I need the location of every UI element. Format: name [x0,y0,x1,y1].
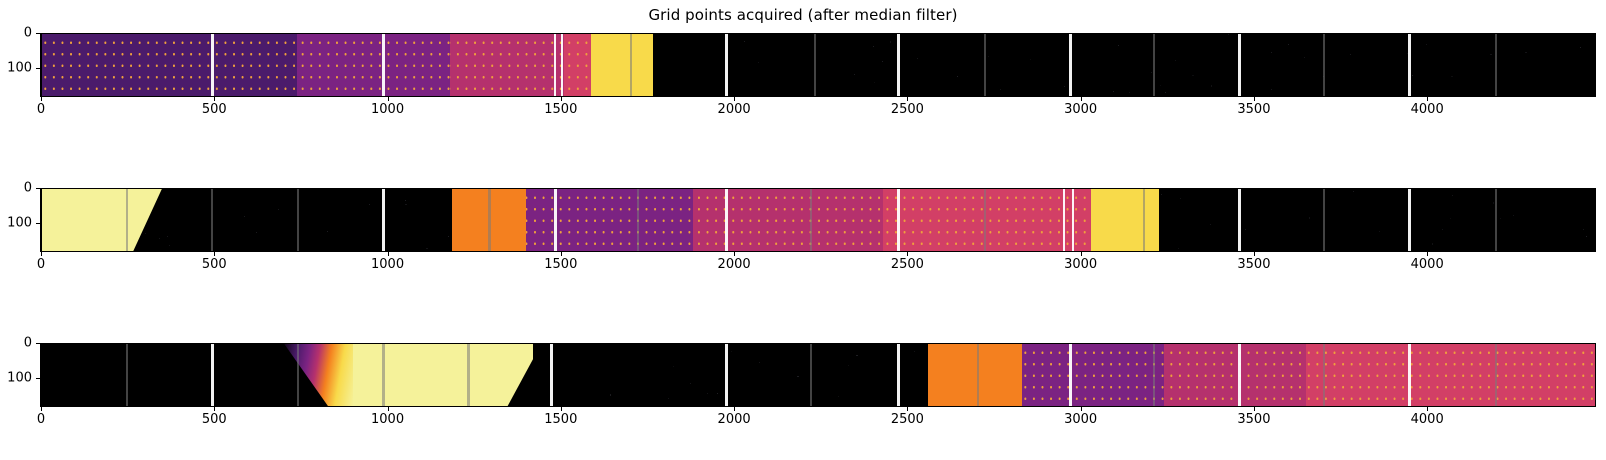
panel-row-3-black-mid [557,343,928,407]
panel-row-2-divider [637,188,639,252]
panel-row-2-y-tick-label: 100 [7,215,32,230]
panel-row-2-x-axis: 05001000150020002500300035004000 [41,252,1596,276]
panel-row-1-purple-grid-2-dots [297,33,449,97]
noise-speck [707,393,708,394]
panel-row-1-yellow-block [591,33,652,97]
panel-row-3-x-tick-label: 3000 [1064,412,1097,427]
panel-row-1-y-tick-label: 100 [7,60,32,75]
panel-row-1-x-axis: 05001000150020002500300035004000 [41,97,1596,121]
panel-row-3-x-tick-label: 4000 [1411,412,1444,427]
noise-speck [256,232,257,233]
panel-row-1-x-tick [734,97,735,101]
noise-speck [1118,45,1119,46]
panel-row-2-y-tick-label: 0 [24,181,32,196]
panel-row-2-image [41,188,1596,252]
panel-row-1-crimson-grid-dots [564,33,591,97]
panel-row-2-divider [897,188,900,252]
panel-row-1-magenta-grid-dots [450,33,564,97]
panel-row-2-x-tick-label: 3000 [1064,257,1097,272]
panel-row-3-x-axis: 05001000150020002500300035004000 [41,407,1596,431]
panel-row-3-x-tick [41,407,42,411]
noise-speck [1113,91,1114,92]
panel-row-1-divider [630,33,632,97]
figure-root: Grid points acquired (after median filte… [0,0,1606,460]
noise-speck [405,200,406,201]
panel-row-3-divider [382,343,385,407]
noise-speck [1450,218,1451,219]
noise-speck [856,355,858,356]
panel-row-3-divider [467,343,470,407]
panel-row-2-x-tick-label: 2500 [891,257,924,272]
noise-speck [1129,92,1130,93]
panel-row-1-divider [725,33,728,97]
panel-row-3-x-tick [1427,407,1428,411]
noise-speck [988,56,989,57]
panel-row-3-x-tick-label: 500 [202,412,227,427]
panel-row-3-x-tick-label: 0 [37,412,45,427]
panel-row-2-divider [1143,188,1145,252]
noise-speck [1211,85,1212,87]
noise-speck [1151,72,1152,73]
noise-speck [1309,217,1310,219]
panel-row-2-divider [382,188,385,252]
panel-row-1-x-tick-label: 1500 [544,102,577,117]
panel-row-1-divider [211,33,214,97]
panel-row-3-orange-block [928,343,1022,407]
panel-row-1-y-tick [36,33,40,34]
noise-speck [327,231,328,232]
panel-row-3-divider [297,343,299,407]
panel-row-3-magenta-grid-dots [1164,343,1306,407]
panel-row-1-purple-grid-dots [41,33,297,97]
noise-speck [1064,86,1065,87]
panel-row-3-x-tick-label: 1000 [371,412,404,427]
panel-row-2-x-tick-label: 3500 [1237,257,1270,272]
noise-speck [1288,44,1289,45]
noise-speck [167,236,168,237]
panel-row-3-y-spine [40,343,41,407]
noise-speck [1452,195,1453,196]
noise-speck [1245,229,1246,230]
noise-speck [731,351,732,352]
panel-row-1-divider [1153,33,1155,97]
noise-speck [874,82,875,83]
panel-row-1-x-tick-label: 3500 [1237,102,1270,117]
figure-title: Grid points acquired (after median filte… [0,6,1606,24]
noise-speck [744,41,745,42]
panel-row-3-x-tick [734,407,735,411]
noise-speck [1175,60,1176,61]
panel-row-1-x-tick-label: 500 [202,102,227,117]
panel-row-3-divider [550,343,553,407]
noise-speck [914,351,915,352]
panel-row-2-divider [488,188,491,252]
panel-row-1-x-tick [1254,97,1255,101]
panel-row-1-divider [382,33,385,97]
panel-row-3-divider [897,343,900,407]
noise-speck [1353,191,1354,192]
noise-speck [1442,229,1443,230]
panel-row-3-purple-grid-dots [1022,343,1164,407]
panel-row-3-x-tick [561,407,562,411]
panel-row-1-x-tick [388,97,389,101]
panel-row-1-x-tick-label: 2500 [891,102,924,117]
panel-row-3-divider [810,343,812,407]
panel-row-1-divider [554,33,556,97]
noise-speck [448,236,449,237]
panel-row-2-x-tick [734,252,735,256]
noise-speck [690,383,691,384]
panel-row-3-y-tick-label: 100 [7,370,32,385]
noise-speck [1350,54,1351,55]
panel-row-3-x-tick-label: 1500 [544,412,577,427]
noise-speck [426,248,428,249]
panel-row-2-divider [1072,188,1074,252]
panel-row-2: 010005001000150020002500300035004000 [41,188,1596,252]
panel-row-3-x-tick [1081,407,1082,411]
panel-row-3-divider [1069,343,1072,407]
panel-row-3-x-tick-label: 3500 [1237,412,1270,427]
panel-row-3-y-tick [36,343,40,344]
panel-row-2-magenta-grid-dots [693,188,884,252]
noise-speck [1525,52,1527,53]
panel-row-2-x-tick [214,252,215,256]
panel-row-2-y-spine [40,188,41,252]
panel-row-3-pale-yellow-block [353,343,533,407]
panel-row-2-divider [1323,188,1325,252]
panel-row-1-divider [561,33,563,97]
noise-speck [1432,243,1433,245]
panel-row-3-divider [1323,343,1325,407]
panel-row-1-divider [1069,33,1072,97]
panel-row-2-x-tick [1081,252,1082,256]
panel-row-1-x-tick-label: 2000 [718,102,751,117]
panel-row-2-x-tick [561,252,562,256]
panel-row-1: 010005001000150020002500300035004000 [41,33,1596,97]
panel-row-3-divider [977,343,979,407]
noise-speck [917,58,918,59]
noise-speck [717,393,718,394]
panel-row-2-divider [297,188,299,252]
panel-row-2-y-tick [36,223,40,224]
panel-row-3-divider [211,343,214,407]
panel-row-1-divider [1408,33,1411,97]
panel-row-2-divider [984,188,986,252]
noise-speck [1412,75,1413,76]
noise-speck [1379,231,1380,232]
panel-row-3-crimson-grid-dots [1306,343,1596,407]
panel-row-1-black-region [653,33,1596,97]
panel-row-3-image [41,343,1596,407]
panel-row-3-y-tick [36,378,40,379]
panel-row-2-divider [211,188,213,252]
panel-row-3-divider [725,343,728,407]
panel-row-2-x-tick-label: 1500 [544,257,577,272]
panel-row-1-y-tick [36,68,40,69]
noise-speck [405,204,407,205]
panel-row-1-x-tick [214,97,215,101]
noise-speck [890,41,891,43]
panel-row-3-divider [126,343,128,407]
panel-row-2-divider [810,188,812,252]
noise-speck [957,76,958,77]
panel-row-2-x-tick-label: 500 [202,257,227,272]
panel-row-3-divider [1238,343,1241,407]
panel-row-1-x-tick-label: 0 [37,102,45,117]
noise-speck [1500,218,1501,219]
noise-speck [759,362,760,363]
panel-row-1-y-spine [40,33,41,97]
noise-speck [1583,229,1584,230]
panel-row-1-divider [984,33,986,97]
panel-row-2-x-tick-label: 0 [37,257,45,272]
panel-row-2-divider [1063,188,1065,252]
panel-row-2-x-tick [1427,252,1428,256]
panel-row-2-y-tick [36,188,40,189]
panel-row-2-x-tick [41,252,42,256]
noise-speck [1160,85,1161,86]
noise-speck [244,216,245,217]
noise-speck [159,238,160,239]
panel-row-1-x-tick-label: 4000 [1411,102,1444,117]
noise-speck [882,61,883,62]
noise-speck [1192,75,1194,76]
panel-row-1-x-tick-label: 3000 [1064,102,1097,117]
panel-row-1-x-tick [1427,97,1428,101]
panel-row-2-yellow-block [1091,188,1159,252]
panel-row-3-x-tick [1254,407,1255,411]
panel-row-3-x-tick-label: 2000 [718,412,751,427]
panel-row-1-divider [1323,33,1325,97]
noise-speck [848,365,849,366]
panel-row-2-x-tick-label: 1000 [371,257,404,272]
panel-row-2-black-tail [1159,188,1596,252]
panel-row-2-divider [725,188,728,252]
noise-speck [668,398,669,399]
noise-speck [278,209,279,210]
panel-row-3-divider [1495,343,1497,407]
noise-speck [1490,54,1492,55]
noise-speck [673,366,674,367]
noise-speck [1426,44,1427,45]
panel-row-1-x-tick [1081,97,1082,101]
noise-speck [1210,224,1211,225]
noise-speck [1271,52,1272,53]
noise-speck [1271,89,1272,90]
panel-row-2-x-tick-label: 2000 [718,257,751,272]
panel-row-2-divider [126,188,128,252]
panel-row-2-divider [554,188,557,252]
noise-speck [854,74,855,75]
panel-row-2-purple-grid-dots [526,188,692,252]
panel-row-1-divider [1238,33,1241,97]
noise-speck [1580,47,1581,48]
panel-row-2-divider [1495,188,1497,252]
noise-speck [169,245,170,246]
panel-row-2-x-tick [907,252,908,256]
panel-row-3-y-tick-label: 0 [24,336,32,351]
noise-speck [1165,92,1166,93]
noise-speck [1228,34,1229,35]
noise-speck [1513,215,1514,216]
noise-speck [797,376,799,377]
panel-row-2-divider [1238,188,1241,252]
noise-speck [1000,89,1001,90]
noise-speck [1304,57,1305,58]
noise-speck [145,233,146,234]
panel-row-3-x-tick-label: 2500 [891,412,924,427]
noise-speck [873,46,874,47]
noise-speck [1178,248,1179,249]
panel-row-3-divider [1153,343,1155,407]
noise-speck [838,396,839,397]
panel-row-2-crimson-grid-dots [883,188,1091,252]
panel-row-2-divider [1408,188,1411,252]
noise-speck [1161,194,1162,195]
panel-row-3-x-tick [907,407,908,411]
panel-row-3-x-tick [214,407,215,411]
panel-row-2-x-tick-label: 4000 [1411,257,1444,272]
noise-speck [1586,236,1587,237]
panel-row-1-divider [897,33,900,97]
panel-row-1-x-tick [561,97,562,101]
panel-row-2-x-tick [1254,252,1255,256]
noise-speck [610,394,611,396]
panel-row-3-divider [1408,343,1411,407]
panel-row-1-x-tick [41,97,42,101]
noise-speck [369,204,370,205]
noise-speck [1451,76,1453,77]
noise-speck [1030,59,1031,60]
noise-speck [1180,198,1181,199]
panel-row-1-x-tick-label: 1000 [371,102,404,117]
panel-row-3: 010005001000150020002500300035004000 [41,343,1596,407]
panel-row-1-image [41,33,1596,97]
panel-row-1-divider [1495,33,1497,97]
panel-row-1-x-tick [907,97,908,101]
panel-row-1-divider [814,33,816,97]
panel-row-2-x-tick [388,252,389,256]
panel-row-1-y-tick-label: 0 [24,26,32,41]
panel-row-3-x-tick [388,407,389,411]
noise-speck [758,62,759,63]
